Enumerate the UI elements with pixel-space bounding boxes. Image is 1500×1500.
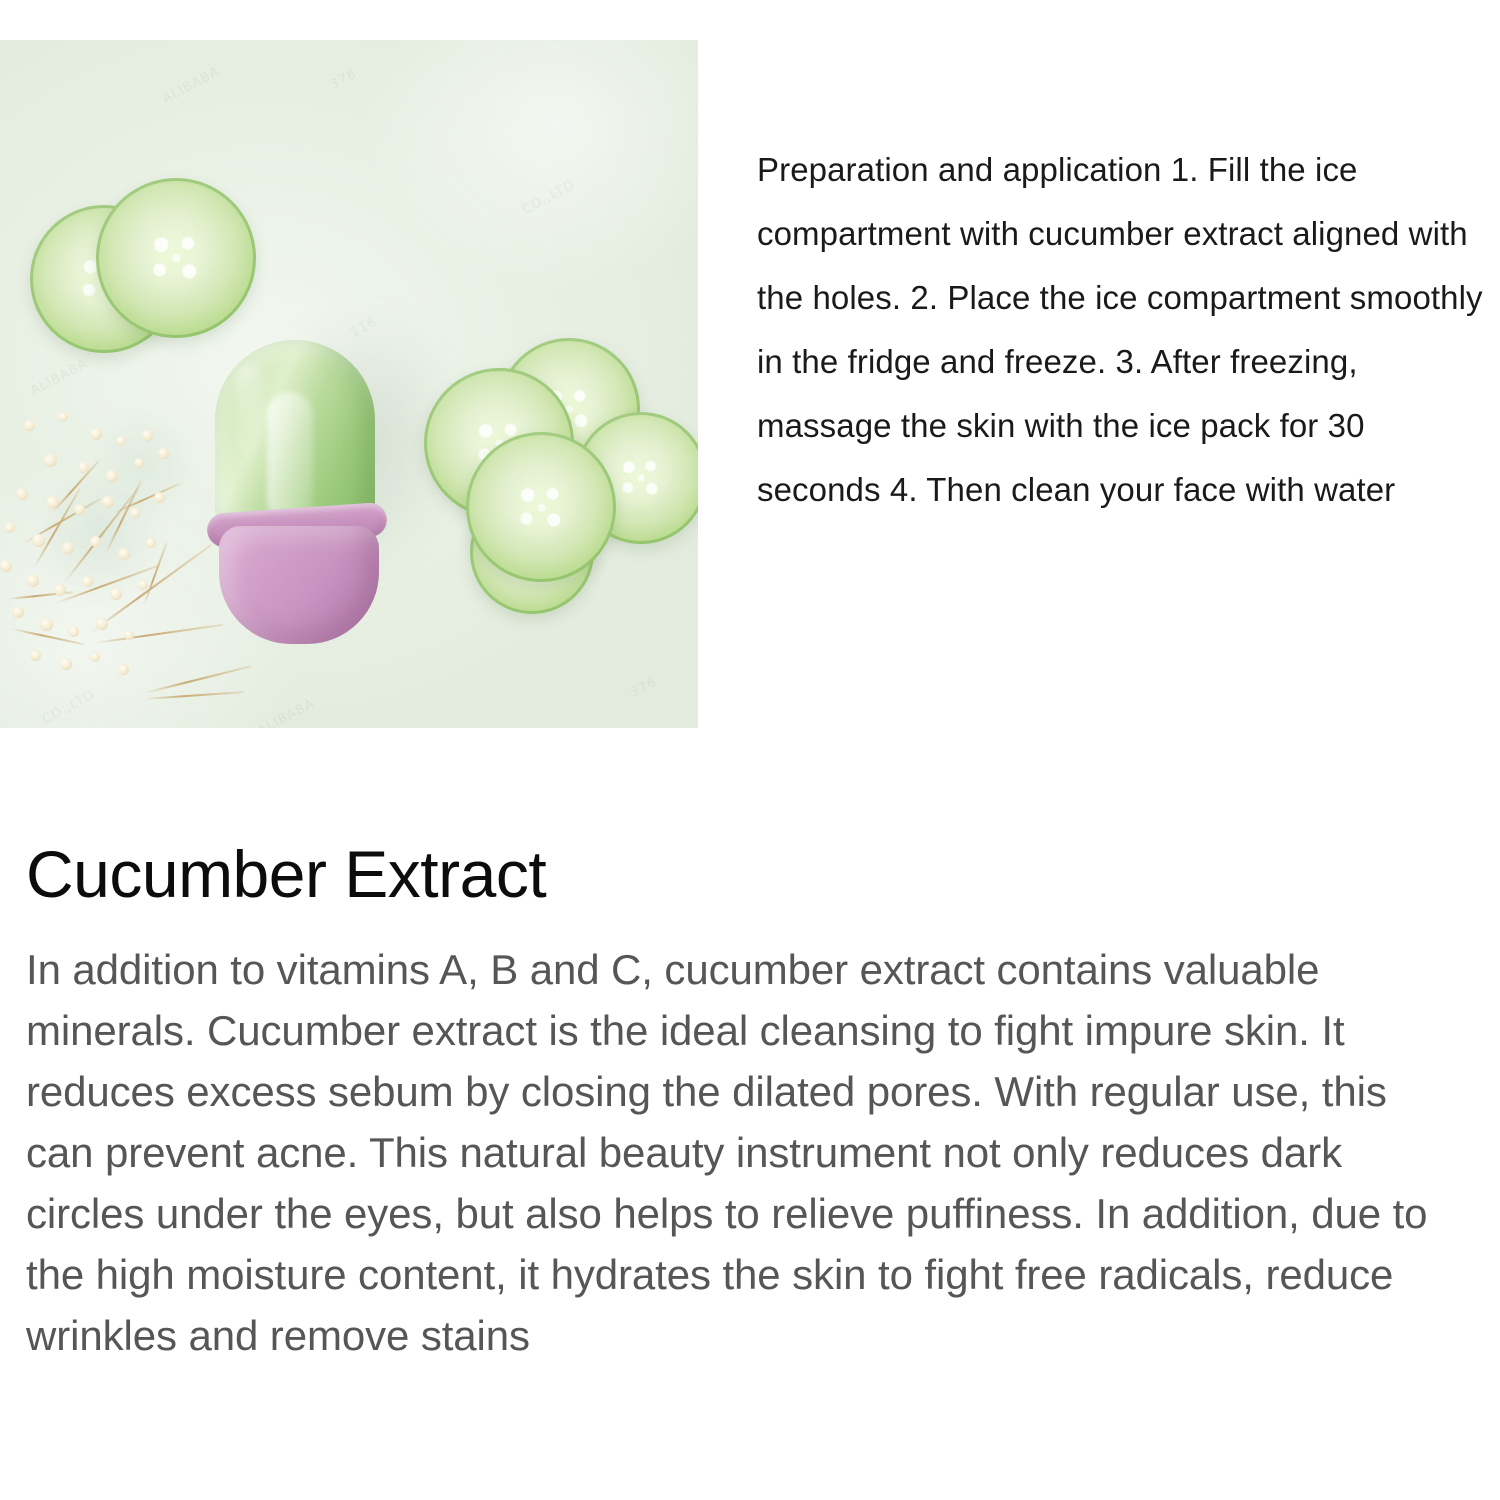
flower-bud: [62, 542, 74, 554]
flower-bud: [154, 492, 165, 503]
flower-bud: [74, 504, 85, 515]
flower-bud: [118, 548, 130, 560]
watermark-text: ALIBABA: [255, 696, 317, 728]
flower-bud: [106, 470, 118, 482]
flower-bud: [46, 496, 59, 509]
flower-bud: [82, 576, 93, 587]
flower-bud: [40, 618, 53, 631]
flower-bud: [146, 538, 156, 548]
flower-bud: [58, 412, 68, 422]
flower-bud: [90, 652, 100, 662]
flower-bud: [90, 536, 101, 547]
flower-bud: [16, 488, 28, 500]
cucumber-slice: [96, 178, 256, 338]
flower-bud: [54, 584, 66, 596]
flower-bud: [30, 650, 41, 661]
flower-bud: [116, 436, 126, 446]
flower-bud: [142, 430, 153, 441]
flower-bud: [24, 420, 35, 431]
flower-bud: [138, 580, 148, 590]
flower-bud: [102, 496, 114, 508]
watermark-text: ALIBABA: [160, 64, 222, 107]
cucumber-slice-rim: [466, 432, 616, 582]
flower-bud: [130, 508, 140, 518]
watermark-text: 376: [628, 674, 660, 700]
product-photo: ALIBABA 376 CO.,LTD ALIBABA 116 376 CO.,…: [0, 40, 698, 728]
flower-bud: [96, 618, 108, 630]
flower-bud: [78, 462, 89, 473]
flower-bud: [134, 458, 144, 468]
top-section: ALIBABA 376 CO.,LTD ALIBABA 116 376 CO.,…: [0, 0, 1500, 760]
watermark-text: CO.,LTD: [520, 177, 578, 217]
flower-bud: [44, 454, 57, 467]
flower-bud: [110, 588, 122, 600]
feature-section: Cucumber Extract In addition to vitamins…: [0, 760, 1500, 1366]
flower-bud: [118, 664, 129, 675]
cucumber-ice-roller-device: [205, 340, 391, 640]
device-silicone-holder: [219, 526, 379, 644]
flower-bud: [0, 560, 12, 572]
flower-bud: [68, 626, 79, 637]
flower-bud: [158, 448, 169, 459]
flower-bud: [60, 658, 72, 670]
flower-bud: [124, 630, 134, 640]
feature-body-text: In addition to vitamins A, B and C, cucu…: [26, 939, 1456, 1366]
flower-bud: [4, 522, 15, 533]
flower-bud: [90, 428, 102, 440]
watermark-text: 376: [328, 66, 360, 92]
flower-bud: [12, 606, 24, 618]
flower-bud: [26, 574, 39, 587]
cucumber-slice: [466, 432, 616, 582]
preparation-instructions: Preparation and application 1. Fill the …: [757, 138, 1487, 522]
feature-headline: Cucumber Extract: [26, 840, 1474, 909]
cucumber-slice-rim: [96, 178, 256, 338]
flower-bud: [32, 534, 45, 547]
